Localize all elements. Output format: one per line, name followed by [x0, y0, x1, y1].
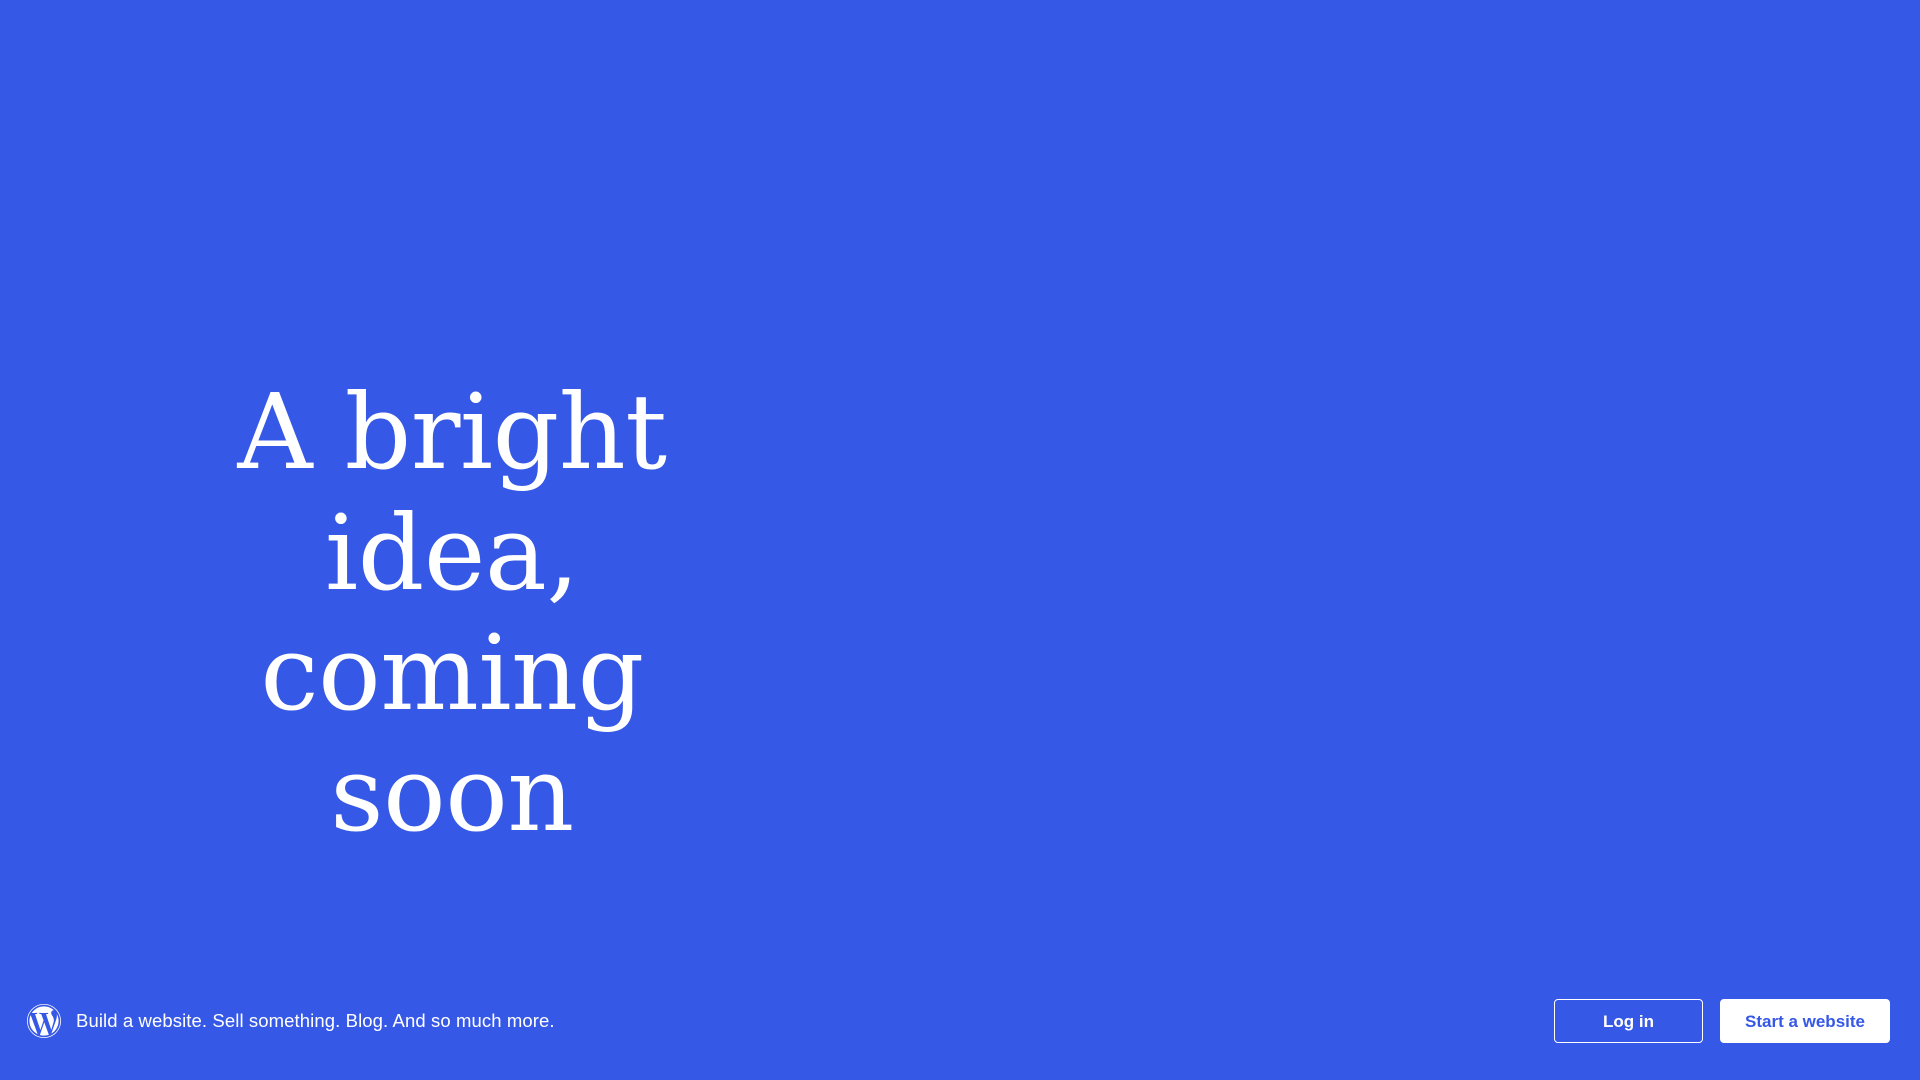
footer-bar: Build a website. Sell something. Blog. A…: [0, 962, 1920, 1080]
footer-actions: Log in Start a website: [1554, 999, 1890, 1043]
coming-soon-page: A bright idea, coming soon Build a websi…: [0, 0, 1920, 1080]
wordpress-logo-icon[interactable]: [27, 1004, 61, 1038]
footer-brand-group: Build a website. Sell something. Blog. A…: [27, 1004, 1554, 1038]
hero-section: A bright idea, coming soon: [0, 0, 1920, 962]
page-title: A bright idea, coming soon: [152, 372, 752, 855]
login-button[interactable]: Log in: [1554, 999, 1703, 1043]
footer-tagline: Build a website. Sell something. Blog. A…: [76, 1010, 555, 1032]
start-a-website-button[interactable]: Start a website: [1720, 999, 1890, 1043]
